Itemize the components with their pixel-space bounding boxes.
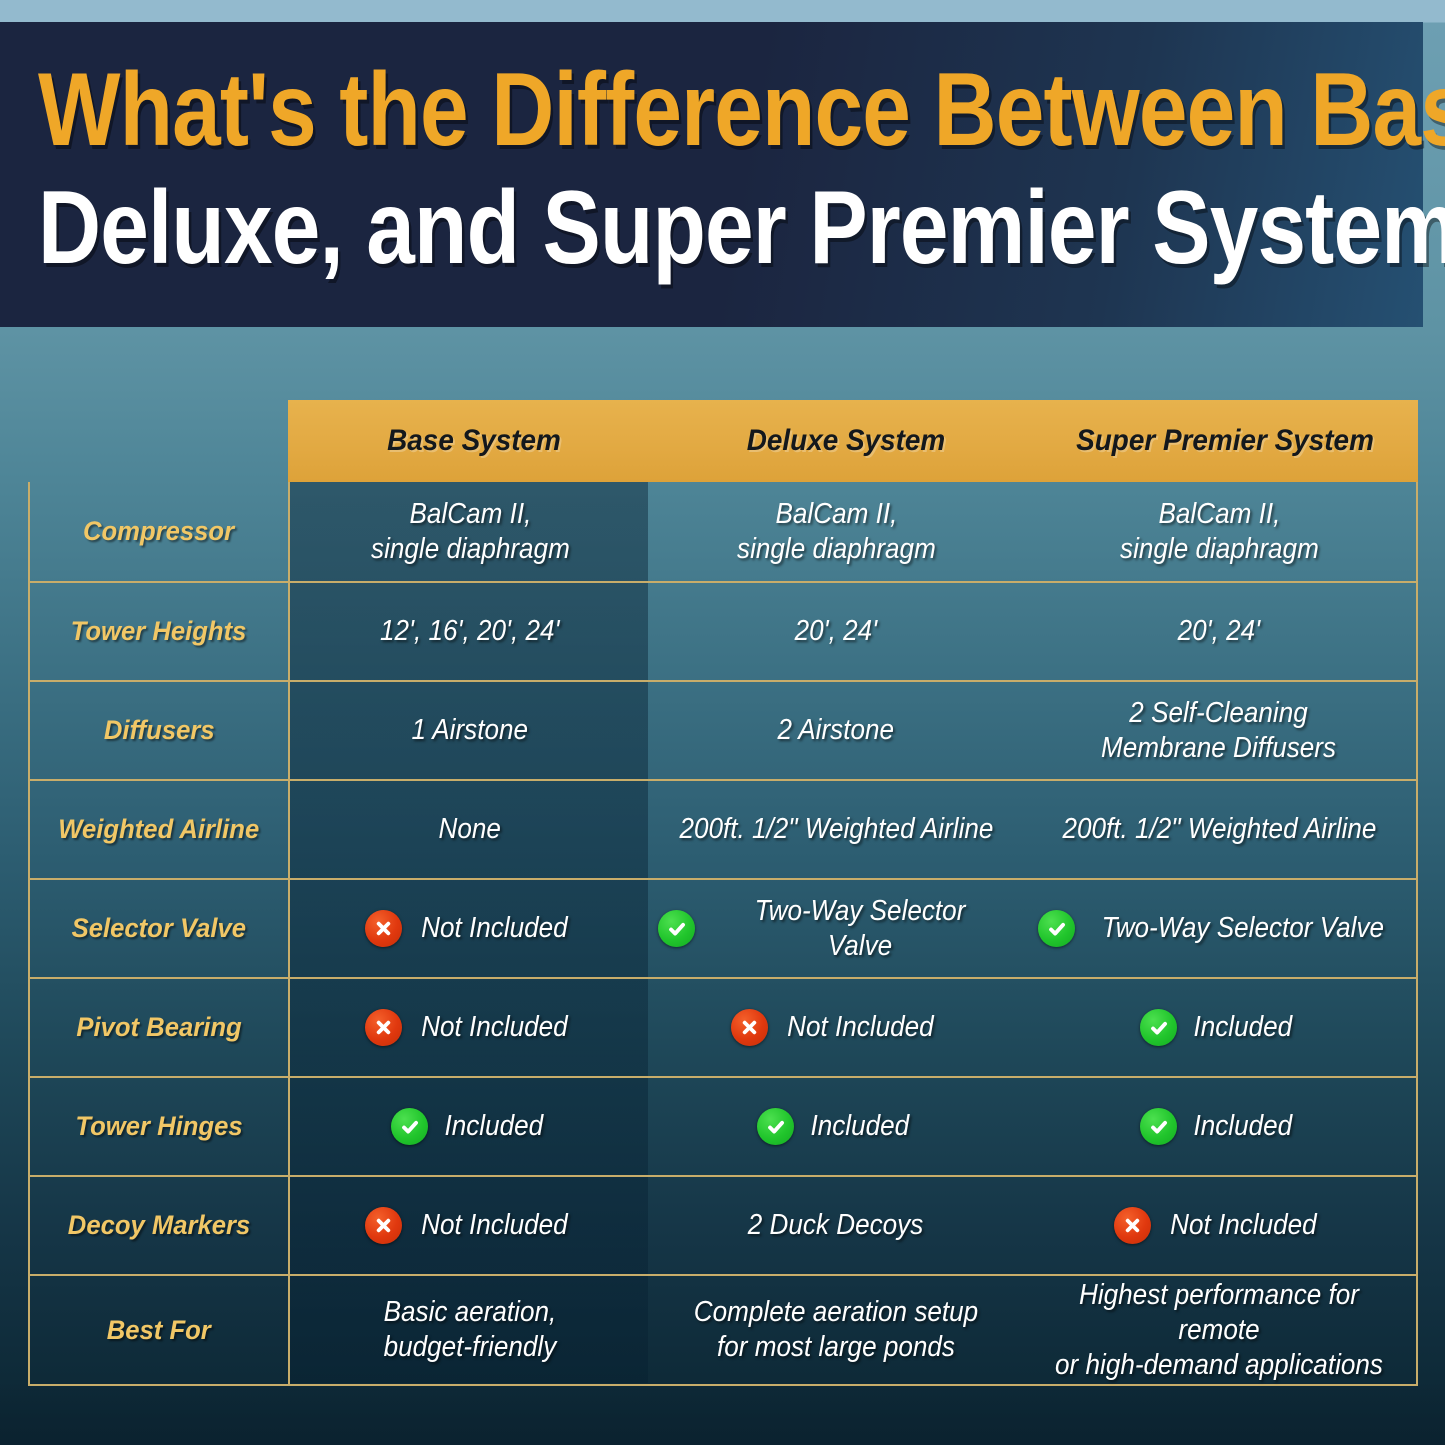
cell-weighted-airline-base: None <box>290 781 650 878</box>
cross-icon <box>365 1207 402 1244</box>
table-row: Tower Heights 12', 16', 20', 24' 20', 24… <box>30 581 1416 680</box>
column-header-base: Base System <box>301 400 647 482</box>
row-label-selector-valve: Selector Valve <box>30 880 290 977</box>
table-row: Weighted Airline None 200ft. 1/2" Weight… <box>30 779 1416 878</box>
check-icon <box>757 1108 794 1145</box>
cell-decoy-markers-deluxe: 2 Duck Decoys <box>650 1177 1022 1274</box>
row-label-compressor: Compressor <box>30 482 290 581</box>
table-row: Pivot Bearing Not Included Not Inc <box>30 977 1416 1076</box>
table-row: Best For Basic aeration,budget-friendly … <box>30 1274 1416 1384</box>
infographic-page: What's the Difference Between Base, Delu… <box>0 0 1445 1445</box>
title-banner: What's the Difference Between Base, Delu… <box>0 22 1423 327</box>
check-icon <box>1140 1009 1177 1046</box>
cell-diffusers-base: 1 Airstone <box>290 682 650 779</box>
cell-decoy-markers-super: Not Included <box>1022 1177 1416 1274</box>
cell-tower-hinges-base: Included <box>290 1078 650 1175</box>
row-label-tower-heights: Tower Heights <box>30 583 290 680</box>
cross-icon <box>365 1009 402 1046</box>
cell-tower-heights-deluxe: 20', 24' <box>650 583 1022 680</box>
cross-icon <box>365 910 402 947</box>
cell-tower-hinges-super: Included <box>1022 1078 1416 1175</box>
table-header-row: Base System Deluxe System Super Premier … <box>288 400 1418 482</box>
cell-weighted-airline-super: 200ft. 1/2" Weighted Airline <box>1022 781 1416 878</box>
bottom-vignette <box>0 1383 1445 1445</box>
cell-best-for-super: Highest performance for remoteor high-de… <box>1022 1276 1416 1384</box>
row-label-decoy-markers: Decoy Markers <box>30 1177 290 1274</box>
table-row: Decoy Markers Not Included 2 Duck Decoys <box>30 1175 1416 1274</box>
cell-decoy-markers-base: Not Included <box>290 1177 650 1274</box>
cross-icon <box>731 1009 768 1046</box>
cell-weighted-airline-deluxe: 200ft. 1/2" Weighted Airline <box>650 781 1022 878</box>
title-line-2: Deluxe, and Super Premier Systems? <box>38 174 1169 282</box>
row-label-weighted-airline: Weighted Airline <box>30 781 290 878</box>
cell-compressor-deluxe: BalCam II,single diaphragm <box>650 482 1022 581</box>
row-label-pivot-bearing: Pivot Bearing <box>30 979 290 1076</box>
cell-diffusers-super: 2 Self-CleaningMembrane Diffusers <box>1022 682 1416 779</box>
cell-tower-hinges-deluxe: Included <box>650 1078 1022 1175</box>
table-row: Compressor BalCam II,single diaphragm Ba… <box>30 482 1416 581</box>
table-body: Compressor BalCam II,single diaphragm Ba… <box>28 482 1418 1386</box>
check-icon <box>658 910 695 947</box>
cell-pivot-bearing-base: Not Included <box>290 979 650 1076</box>
cell-selector-valve-base: Not Included <box>290 880 650 977</box>
table-row: Selector Valve Not Included Two-Wa <box>30 878 1416 977</box>
cell-tower-heights-super: 20', 24' <box>1022 583 1416 680</box>
table-row: Diffusers 1 Airstone 2 Airstone 2 Self-C… <box>30 680 1416 779</box>
column-header-super: Super Premier System <box>1046 400 1405 482</box>
cell-best-for-deluxe: Complete aeration setupfor most large po… <box>650 1276 1022 1384</box>
cell-pivot-bearing-deluxe: Not Included <box>650 979 1022 1076</box>
cell-diffusers-deluxe: 2 Airstone <box>650 682 1022 779</box>
cell-selector-valve-deluxe: Two-Way Selector Valve <box>650 880 1022 977</box>
cell-pivot-bearing-super: Included <box>1022 979 1416 1076</box>
cross-icon <box>1114 1207 1151 1244</box>
table-row: Tower Hinges Included Included <box>30 1076 1416 1175</box>
check-icon <box>1140 1108 1177 1145</box>
row-label-best-for: Best For <box>30 1276 290 1384</box>
check-icon <box>391 1108 428 1145</box>
check-icon <box>1038 910 1075 947</box>
cell-best-for-base: Basic aeration,budget-friendly <box>290 1276 650 1384</box>
cell-compressor-base: BalCam II,single diaphragm <box>290 482 650 581</box>
row-label-diffusers: Diffusers <box>30 682 290 779</box>
cell-compressor-super: BalCam II,single diaphragm <box>1022 482 1416 581</box>
row-label-tower-hinges: Tower Hinges <box>30 1078 290 1175</box>
cell-selector-valve-super: Two-Way Selector Valve <box>1022 880 1416 977</box>
title-line-1: What's the Difference Between Base, <box>38 56 1169 164</box>
cell-tower-heights-base: 12', 16', 20', 24' <box>290 583 650 680</box>
column-header-deluxe: Deluxe System <box>673 400 1019 482</box>
